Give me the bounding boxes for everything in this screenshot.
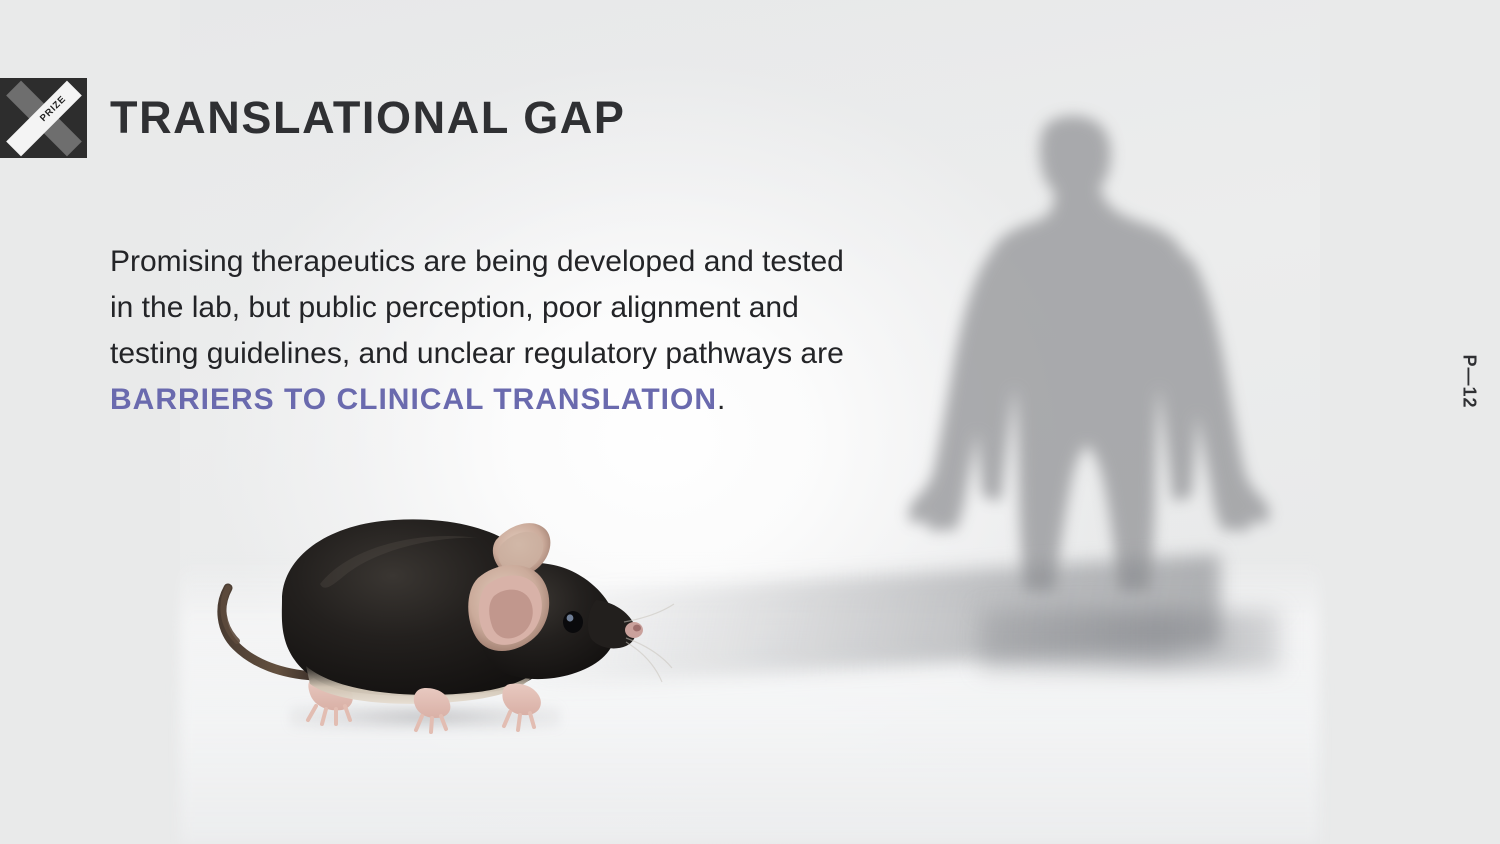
page-number: P—12 (1459, 337, 1480, 427)
lab-mouse-photo (210, 480, 680, 750)
body-lead-text: Promising therapeutics are being develop… (110, 245, 844, 370)
slide: PRIZE TRANSLATIONAL GAP Promising therap… (0, 0, 1500, 844)
body-tail-text: . (717, 383, 725, 416)
body-paragraph: Promising therapeutics are being develop… (110, 239, 870, 423)
body-highlight-text: BARRIERS TO CLINICAL TRANSLATION (110, 383, 717, 416)
page-title: TRANSLATIONAL GAP (110, 92, 626, 144)
xprize-logo[interactable]: PRIZE (0, 78, 87, 158)
ground-shadow-pool (980, 610, 1280, 670)
